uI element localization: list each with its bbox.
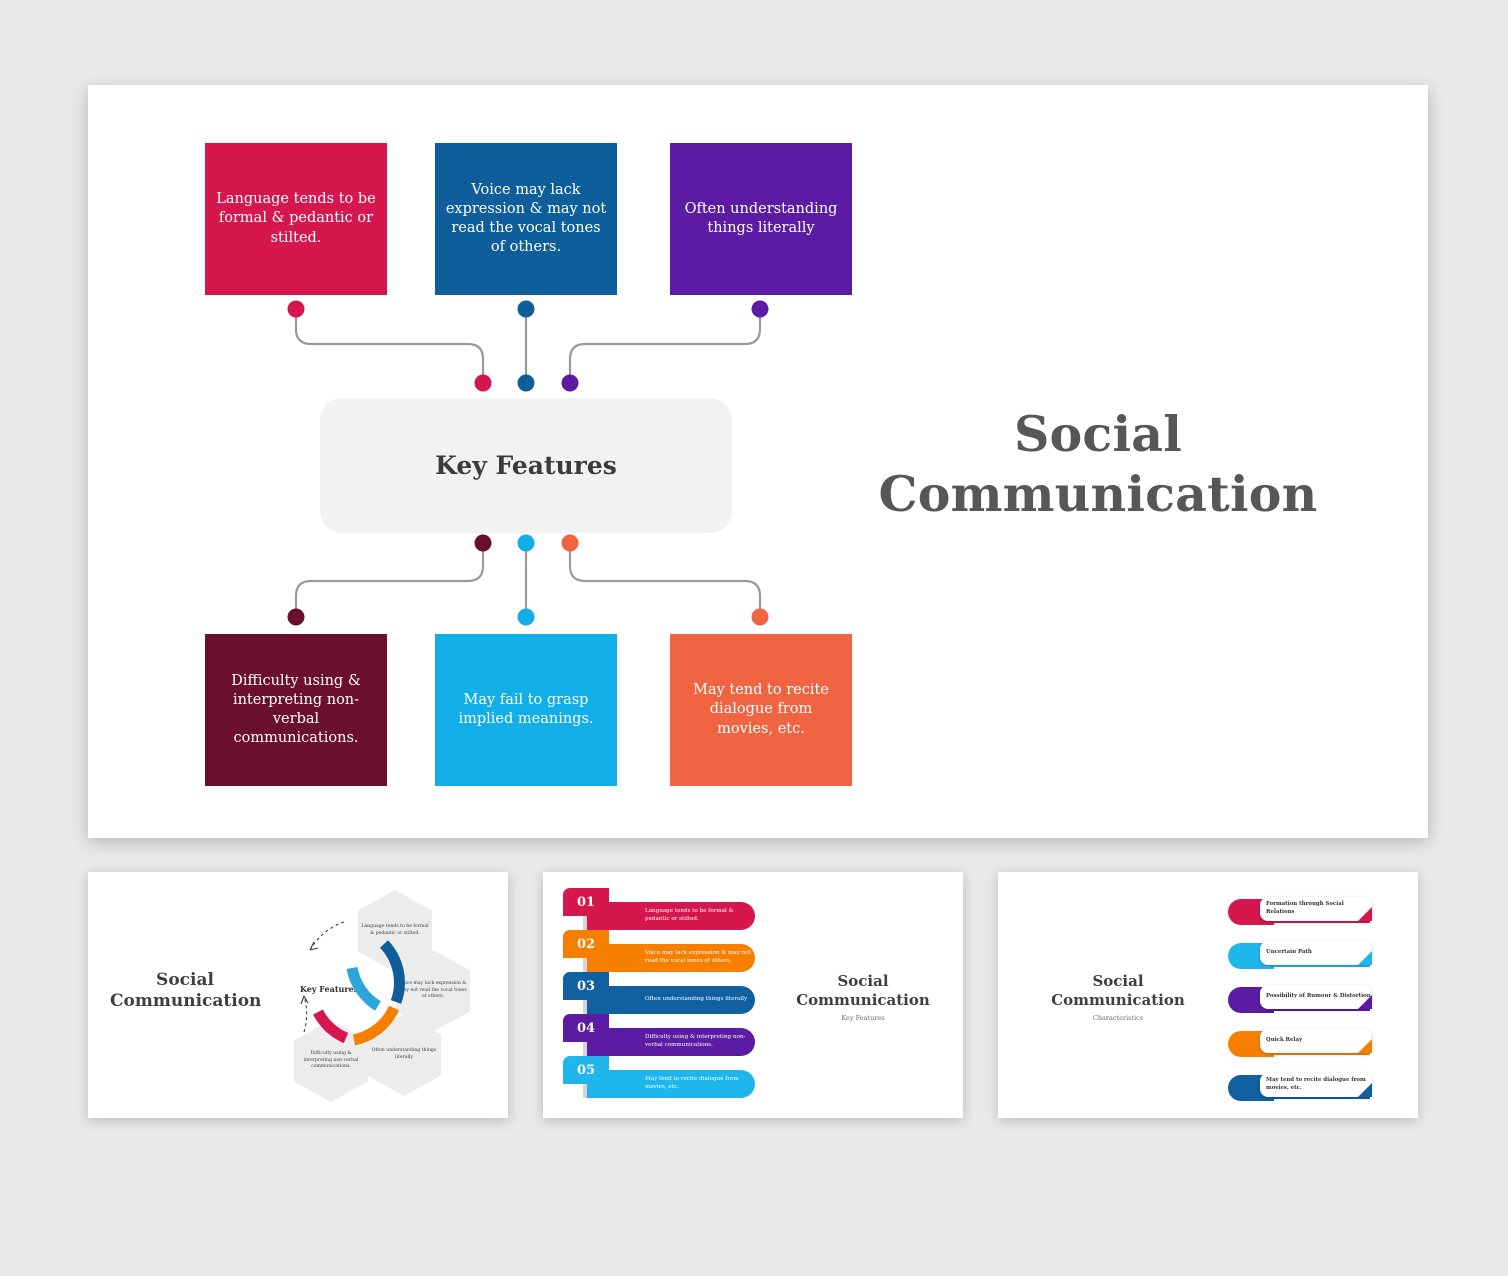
thumb3-title-line-2: Communication [1051, 991, 1185, 1009]
ribbon-number: 02 [563, 930, 609, 958]
pill-text: Formation through Social Relations [1266, 901, 1372, 916]
key-features-hub[interactable]: Key Features [320, 398, 732, 533]
pill-card: Possibility of Rumour & Distortion [1260, 985, 1372, 1009]
pill-row-1[interactable]: Formation through Social Relations [1228, 897, 1376, 927]
pill-text: Possibility of Rumour & Distortion [1266, 993, 1371, 1001]
pill-text: Uncertain Path [1266, 949, 1312, 957]
ribbon-body: Voice may lack expression & may not read… [587, 944, 755, 972]
main-slide[interactable]: Language tends to be formal & pedantic o… [88, 85, 1428, 838]
ribbon-body: May tend to recite dialogue from movies,… [587, 1070, 755, 1098]
feature-card-text: Difficulty using & interpreting non-verb… [215, 672, 377, 749]
hex-wheel-arcs [266, 880, 502, 1116]
pill-row-3[interactable]: Possibility of Rumour & Distortion [1228, 985, 1376, 1015]
feature-card-text: May fail to grasp implied meanings. [445, 691, 607, 729]
pill-row-5[interactable]: May tend to recite dialogue from movies,… [1228, 1073, 1376, 1103]
pill-card: May tend to recite dialogue from movies,… [1260, 1073, 1372, 1097]
feature-card-top-1[interactable]: Language tends to be formal & pedantic o… [205, 143, 387, 295]
pill-card: Formation through Social Relations [1260, 897, 1372, 921]
ribbon-text: Often understanding things literally [645, 996, 747, 1004]
feature-card-text: Language tends to be formal & pedantic o… [215, 190, 377, 247]
pill-row-2[interactable]: Uncertain Path [1228, 941, 1376, 971]
ribbon-number: 05 [563, 1056, 609, 1084]
pill-notch-icon [1358, 907, 1372, 921]
thumb2-subtitle: Key Features [783, 1014, 943, 1022]
feature-card-top-2[interactable]: Voice may lack expression & may not read… [435, 143, 617, 295]
thumb3-title-line-1: Social [1092, 972, 1143, 990]
thumb1-title: Social Communication [110, 970, 260, 1013]
ribbon-body: Language tends to be formal & pedantic o… [587, 902, 755, 930]
thumbnail-slide-3[interactable]: Social Communication Characteristics For… [998, 872, 1418, 1118]
feature-card-text: Often understanding things literally [680, 200, 842, 238]
thumb2-title-line-1: Social [837, 972, 888, 990]
thumb2-title: Social Communication Key Features [783, 972, 943, 1022]
ribbon-text: May tend to recite dialogue from movies,… [645, 1076, 755, 1091]
pill-card: Quick Relay [1260, 1029, 1372, 1053]
feature-card-bottom-1[interactable]: Difficulty using & interpreting non-verb… [205, 634, 387, 786]
ribbon-text: Difficulty using & interpreting non-verb… [645, 1034, 755, 1049]
slide-title-line-2: Communication [848, 465, 1348, 525]
feature-card-bottom-3[interactable]: May tend to recite dialogue from movies,… [670, 634, 852, 786]
thumbnail-slide-2[interactable]: Social Communication Key Features Langua… [543, 872, 963, 1118]
ribbon-text: Voice may lack expression & may not read… [645, 950, 755, 965]
slide-title: Social Communication [848, 405, 1348, 525]
feature-card-top-3[interactable]: Often understanding things literally [670, 143, 852, 295]
ribbon-body: Difficulty using & interpreting non-verb… [587, 1028, 755, 1056]
key-features-hub-label: Key Features [435, 451, 617, 480]
thumb1-title-line-2: Communication [110, 991, 261, 1011]
feature-card-bottom-2[interactable]: May fail to grasp implied meanings. [435, 634, 617, 786]
feature-card-text: Voice may lack expression & may not read… [445, 181, 607, 258]
pill-text: May tend to recite dialogue from movies,… [1266, 1077, 1372, 1092]
pill-card: Uncertain Path [1260, 941, 1372, 965]
thumb1-title-line-1: Social [156, 970, 214, 990]
ribbon-number: 03 [563, 972, 609, 1000]
thumb3-title: Social Communication Characteristics [1038, 972, 1198, 1022]
pill-notch-icon [1358, 995, 1372, 1009]
pill-text: Quick Relay [1266, 1037, 1302, 1045]
slide-deck-stage: Language tends to be formal & pedantic o… [0, 0, 1508, 1276]
pill-row-4[interactable]: Quick Relay [1228, 1029, 1376, 1059]
slide-title-line-1: Social [1014, 405, 1182, 463]
ribbon-body: Often understanding things literally [587, 986, 755, 1014]
thumb3-subtitle: Characteristics [1038, 1014, 1198, 1022]
thumb2-title-line-2: Communication [796, 991, 930, 1009]
hexagon-wheel: Key Features Language tends to be formal… [266, 880, 502, 1116]
thumbnail-slide-1[interactable]: Social Communication Key Features Langua… [88, 872, 508, 1118]
feature-card-text: May tend to recite dialogue from movies,… [680, 681, 842, 738]
pill-notch-icon [1358, 1039, 1372, 1053]
ribbon-number: 01 [563, 888, 609, 916]
pill-notch-icon [1358, 951, 1372, 965]
ribbon-text: Language tends to be formal & pedantic o… [645, 908, 755, 923]
ribbon-number: 04 [563, 1014, 609, 1042]
pill-notch-icon [1358, 1083, 1372, 1097]
